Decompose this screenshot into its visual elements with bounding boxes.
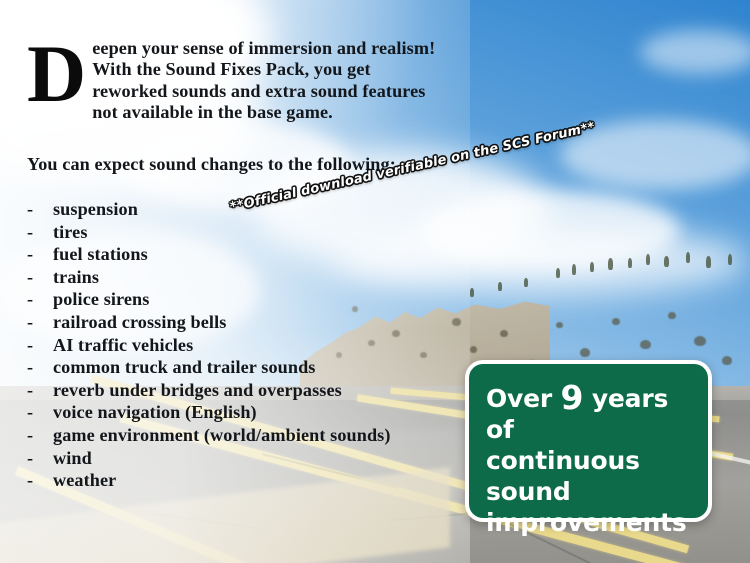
list-item: -fuel stations [27, 243, 391, 266]
sign-line1-prefix: Over [486, 384, 561, 413]
list-item-label: wind [53, 447, 92, 470]
list-item-label: suspension [53, 198, 138, 221]
list-item: -common truck and trailer sounds [27, 356, 391, 379]
bullet-marker: - [27, 334, 53, 357]
green-highway-sign: Over 9 years of continuous sound improve… [465, 360, 712, 522]
list-item: -game environment (world/ambient sounds) [27, 424, 391, 447]
bullet-marker: - [27, 198, 53, 221]
bullet-marker: - [27, 266, 53, 289]
list-item-label: reverb under bridges and overpasses [53, 379, 342, 402]
list-item-label: police sirens [53, 288, 149, 311]
list-item-label: railroad crossing bells [53, 311, 226, 334]
list-item-label: game environment (world/ambient sounds) [53, 424, 391, 447]
intro-body-text: eepen your sense of immersion and realis… [27, 38, 437, 124]
feature-list: -suspension -tires -fuel stations -train… [27, 198, 391, 492]
list-item: -police sirens [27, 288, 391, 311]
list-item: -wind [27, 447, 391, 470]
poster: D eepen your sense of immersion and real… [0, 0, 750, 563]
list-item: -trains [27, 266, 391, 289]
list-item: -tires [27, 221, 391, 244]
list-item-label: AI traffic vehicles [53, 334, 193, 357]
bullet-marker: - [27, 424, 53, 447]
list-item-label: common truck and trailer sounds [53, 356, 315, 379]
bullet-marker: - [27, 379, 53, 402]
list-item-label: voice navigation (English) [53, 401, 257, 424]
drop-cap-letter: D [27, 40, 86, 107]
bullet-marker: - [27, 469, 53, 492]
list-item: -suspension [27, 198, 391, 221]
bullet-marker: - [27, 356, 53, 379]
list-item-label: weather [53, 469, 116, 492]
sign-years-number: 9 [561, 378, 584, 417]
intro-paragraph: D eepen your sense of immersion and real… [27, 38, 437, 124]
sign-line4: improvements [486, 508, 687, 537]
bullet-marker: - [27, 243, 53, 266]
sign-text-block: Over 9 years of continuous sound improve… [486, 382, 696, 538]
bullet-marker: - [27, 288, 53, 311]
bullet-marker: - [27, 401, 53, 424]
bullet-marker: - [27, 311, 53, 334]
sign-line2: continuous [486, 446, 640, 475]
sign-line3: sound [486, 477, 571, 506]
list-item: -railroad crossing bells [27, 311, 391, 334]
lead-in-text: You can expect sound changes to the foll… [27, 154, 396, 175]
list-item: -AI traffic vehicles [27, 334, 391, 357]
list-item: -weather [27, 469, 391, 492]
list-item-label: fuel stations [53, 243, 148, 266]
bullet-marker: - [27, 447, 53, 470]
list-item: -reverb under bridges and overpasses [27, 379, 391, 402]
bullet-marker: - [27, 221, 53, 244]
list-item-label: trains [53, 266, 99, 289]
list-item: -voice navigation (English) [27, 401, 391, 424]
list-item-label: tires [53, 221, 88, 244]
